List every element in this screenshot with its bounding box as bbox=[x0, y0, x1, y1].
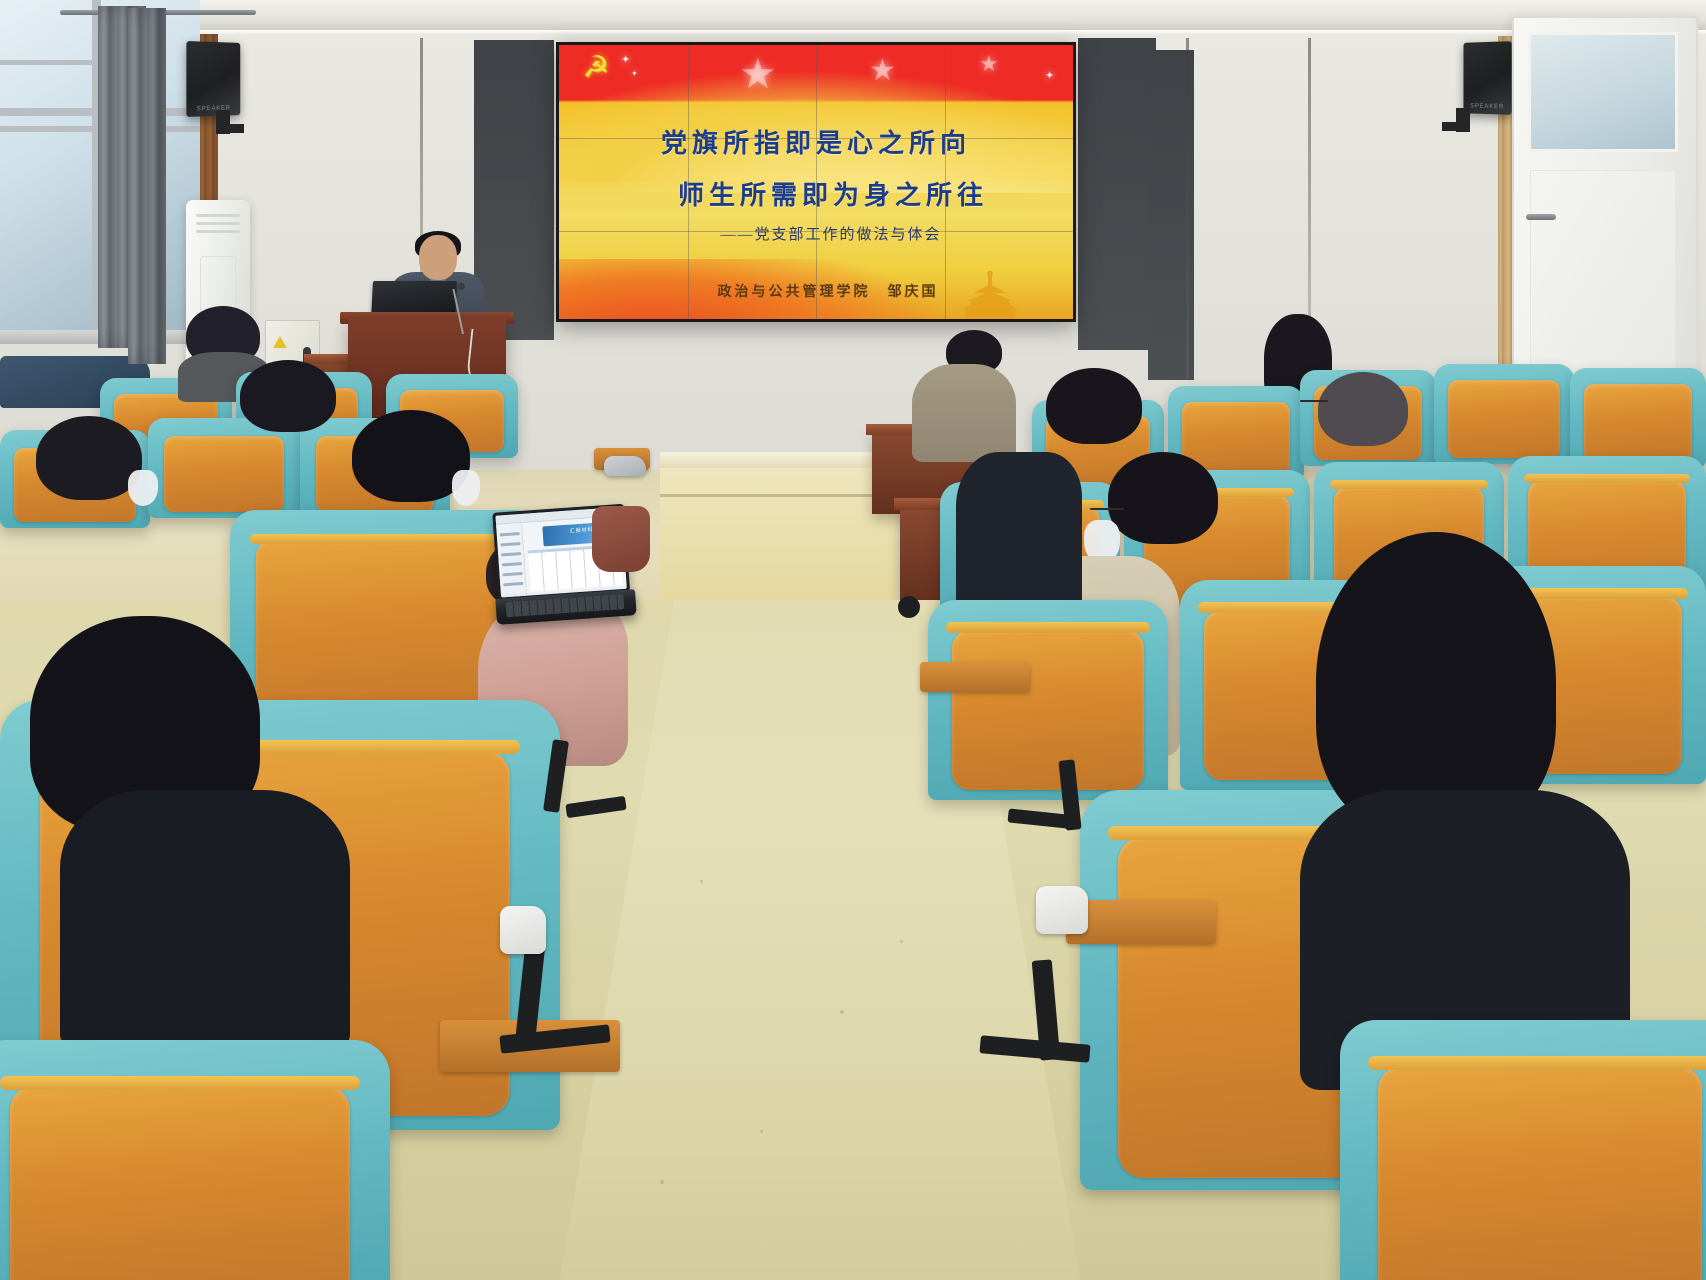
handbag bbox=[592, 506, 650, 572]
glasses-r2 bbox=[1300, 400, 1328, 402]
door-handle[interactable] bbox=[1526, 214, 1556, 220]
door-glass-panel bbox=[1528, 32, 1678, 152]
star-icon-2: ★ bbox=[869, 53, 896, 88]
audience-body-r1 bbox=[956, 452, 1082, 612]
star-icon-1: ★ bbox=[739, 49, 777, 98]
seat-right-row-a-4[interactable] bbox=[1434, 364, 1574, 464]
presenter-head bbox=[419, 235, 457, 280]
wall-speaker-right: SPEAKER bbox=[1464, 41, 1512, 115]
lecture-hall-photo: SPEAKER SPEAKER ☭ ✦ ✦ ★ ★ ★ ✦ 党旗所指即是心之所向… bbox=[0, 0, 1706, 1280]
wall-speaker-left: SPEAKER bbox=[186, 41, 240, 117]
warning-triangle-icon bbox=[273, 336, 287, 348]
laptop-keyboard[interactable] bbox=[506, 594, 625, 617]
item-on-desk bbox=[604, 456, 646, 476]
audience-body-right-table bbox=[912, 364, 1016, 462]
sparkle-icon-1: ✦ bbox=[621, 53, 630, 66]
audience-head-r3 bbox=[1108, 452, 1218, 544]
stage-front-face bbox=[660, 452, 896, 612]
audience-head-b1 bbox=[36, 416, 142, 500]
ceiling bbox=[0, 0, 1706, 34]
door[interactable] bbox=[1512, 16, 1698, 396]
speaker-mount-right-arm bbox=[1442, 122, 1460, 131]
shoe-left bbox=[500, 906, 546, 954]
seat-caster-right bbox=[898, 596, 920, 618]
seat-right-foreground[interactable] bbox=[1340, 1020, 1706, 1280]
window-frame-mullion bbox=[0, 60, 92, 65]
hammer-and-sickle-icon: ☭ bbox=[575, 51, 617, 85]
video-wall-display: ☭ ✦ ✦ ★ ★ ★ ✦ 党旗所指即是心之所向 师生所需即为身之所往 ——党支… bbox=[556, 42, 1076, 322]
door-lower-panel bbox=[1530, 170, 1676, 376]
wall-panel-dark-right bbox=[1078, 38, 1156, 350]
seat-foreground-left[interactable] bbox=[0, 1040, 390, 1280]
speaker-brand-label-right: SPEAKER bbox=[1464, 103, 1512, 110]
audience-body-front-left bbox=[60, 790, 350, 1050]
shoe-right bbox=[1036, 886, 1088, 934]
stage-lip bbox=[660, 452, 896, 468]
wall-panel-dark-left bbox=[474, 40, 554, 340]
presentation-slide: ☭ ✦ ✦ ★ ★ ★ ✦ 党旗所指即是心之所向 师生所需即为身之所往 ——党支… bbox=[559, 45, 1073, 319]
wall-seam-3 bbox=[1186, 38, 1189, 378]
sparkle-icon-3: ✦ bbox=[1045, 69, 1054, 82]
star-icon-3: ★ bbox=[979, 51, 999, 77]
microphone-head bbox=[458, 283, 465, 290]
curtain-right bbox=[128, 8, 166, 364]
audience-head-r1 bbox=[1046, 368, 1142, 444]
seat-arm-r-c bbox=[920, 662, 1030, 692]
seat-row-b-mid[interactable] bbox=[148, 418, 300, 518]
audience-head-b2 bbox=[240, 360, 336, 432]
seat-right-row-a-5[interactable] bbox=[1570, 368, 1706, 468]
glasses-r3 bbox=[1090, 508, 1124, 510]
stage-seam bbox=[660, 494, 896, 497]
seat-arm-r-front bbox=[1066, 900, 1216, 944]
audience-head-r2 bbox=[1318, 372, 1408, 446]
audience-mask-b1 bbox=[128, 470, 158, 506]
sparkle-icon-2: ✦ bbox=[631, 69, 638, 78]
pagoda-building-icon bbox=[951, 269, 1029, 319]
audience-mask-b3 bbox=[452, 470, 480, 506]
seat-right-row-c-1[interactable] bbox=[928, 600, 1168, 800]
speaker-brand-label: SPEAKER bbox=[186, 105, 240, 113]
speaker-mount-left-arm bbox=[226, 124, 244, 133]
audience-head-front-right bbox=[1316, 532, 1556, 832]
